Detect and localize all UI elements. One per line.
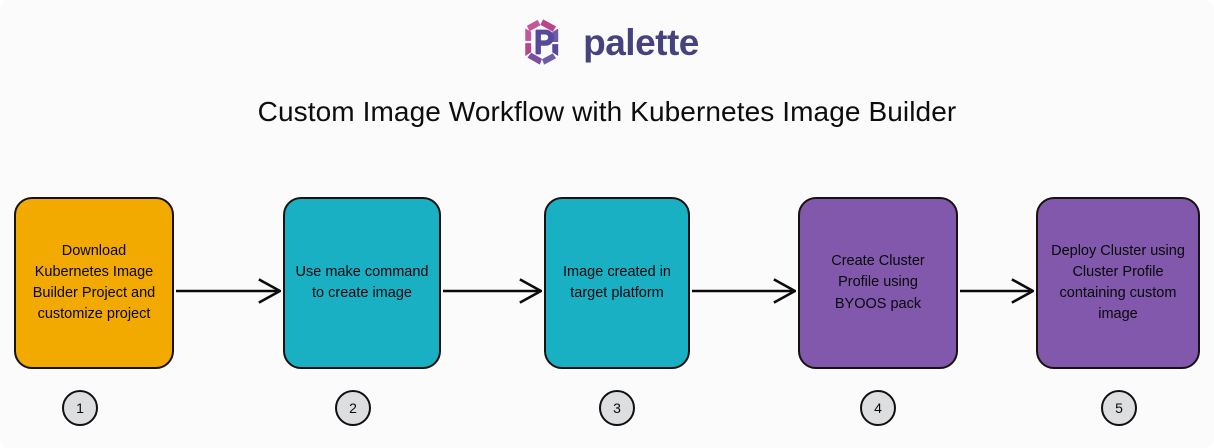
flow-node-1[interactable]: Download Kubernetes Image Builder Projec…: [14, 197, 174, 369]
flow-node-3-label: Image created in target platform: [563, 262, 671, 304]
page-title: Custom Image Workflow with Kubernetes Im…: [0, 96, 1214, 128]
flow-node-4[interactable]: Create Cluster Profile using BYOOS pack: [798, 197, 958, 369]
step-marker-3: 3: [599, 390, 635, 426]
step-marker-1: 1: [62, 390, 98, 426]
flow-node-1-label: Download Kubernetes Image Builder Projec…: [33, 241, 156, 325]
flow-node-5-label: Deploy Cluster using Cluster Profile con…: [1051, 241, 1185, 325]
flow-node-3[interactable]: Image created in target platform: [544, 197, 690, 369]
flow-node-5[interactable]: Deploy Cluster using Cluster Profile con…: [1036, 197, 1200, 369]
step-marker-3-label: 3: [613, 400, 621, 416]
brand-header: palette: [0, 10, 1214, 74]
step-marker-1-label: 1: [76, 400, 84, 416]
arrow-4-to-5: [960, 274, 1034, 308]
step-marker-4: 4: [860, 390, 896, 426]
step-marker-4-label: 4: [874, 400, 882, 416]
palette-hexagon-logo-icon: [515, 15, 569, 69]
arrow-1-to-2: [176, 274, 281, 308]
diagram-canvas: palette Custom Image Workflow with Kuber…: [0, 0, 1214, 448]
step-marker-5-label: 5: [1115, 400, 1123, 416]
flow-node-2-label: Use make command to create image: [296, 262, 429, 304]
step-marker-2: 2: [335, 390, 371, 426]
step-marker-5: 5: [1101, 390, 1137, 426]
flow-node-2[interactable]: Use make command to create image: [283, 197, 441, 369]
arrow-2-to-3: [443, 274, 542, 308]
arrow-3-to-4: [692, 274, 796, 308]
brand-wordmark: palette: [583, 24, 699, 61]
flow-node-4-label: Create Cluster Profile using BYOOS pack: [831, 251, 924, 314]
step-marker-2-label: 2: [349, 400, 357, 416]
